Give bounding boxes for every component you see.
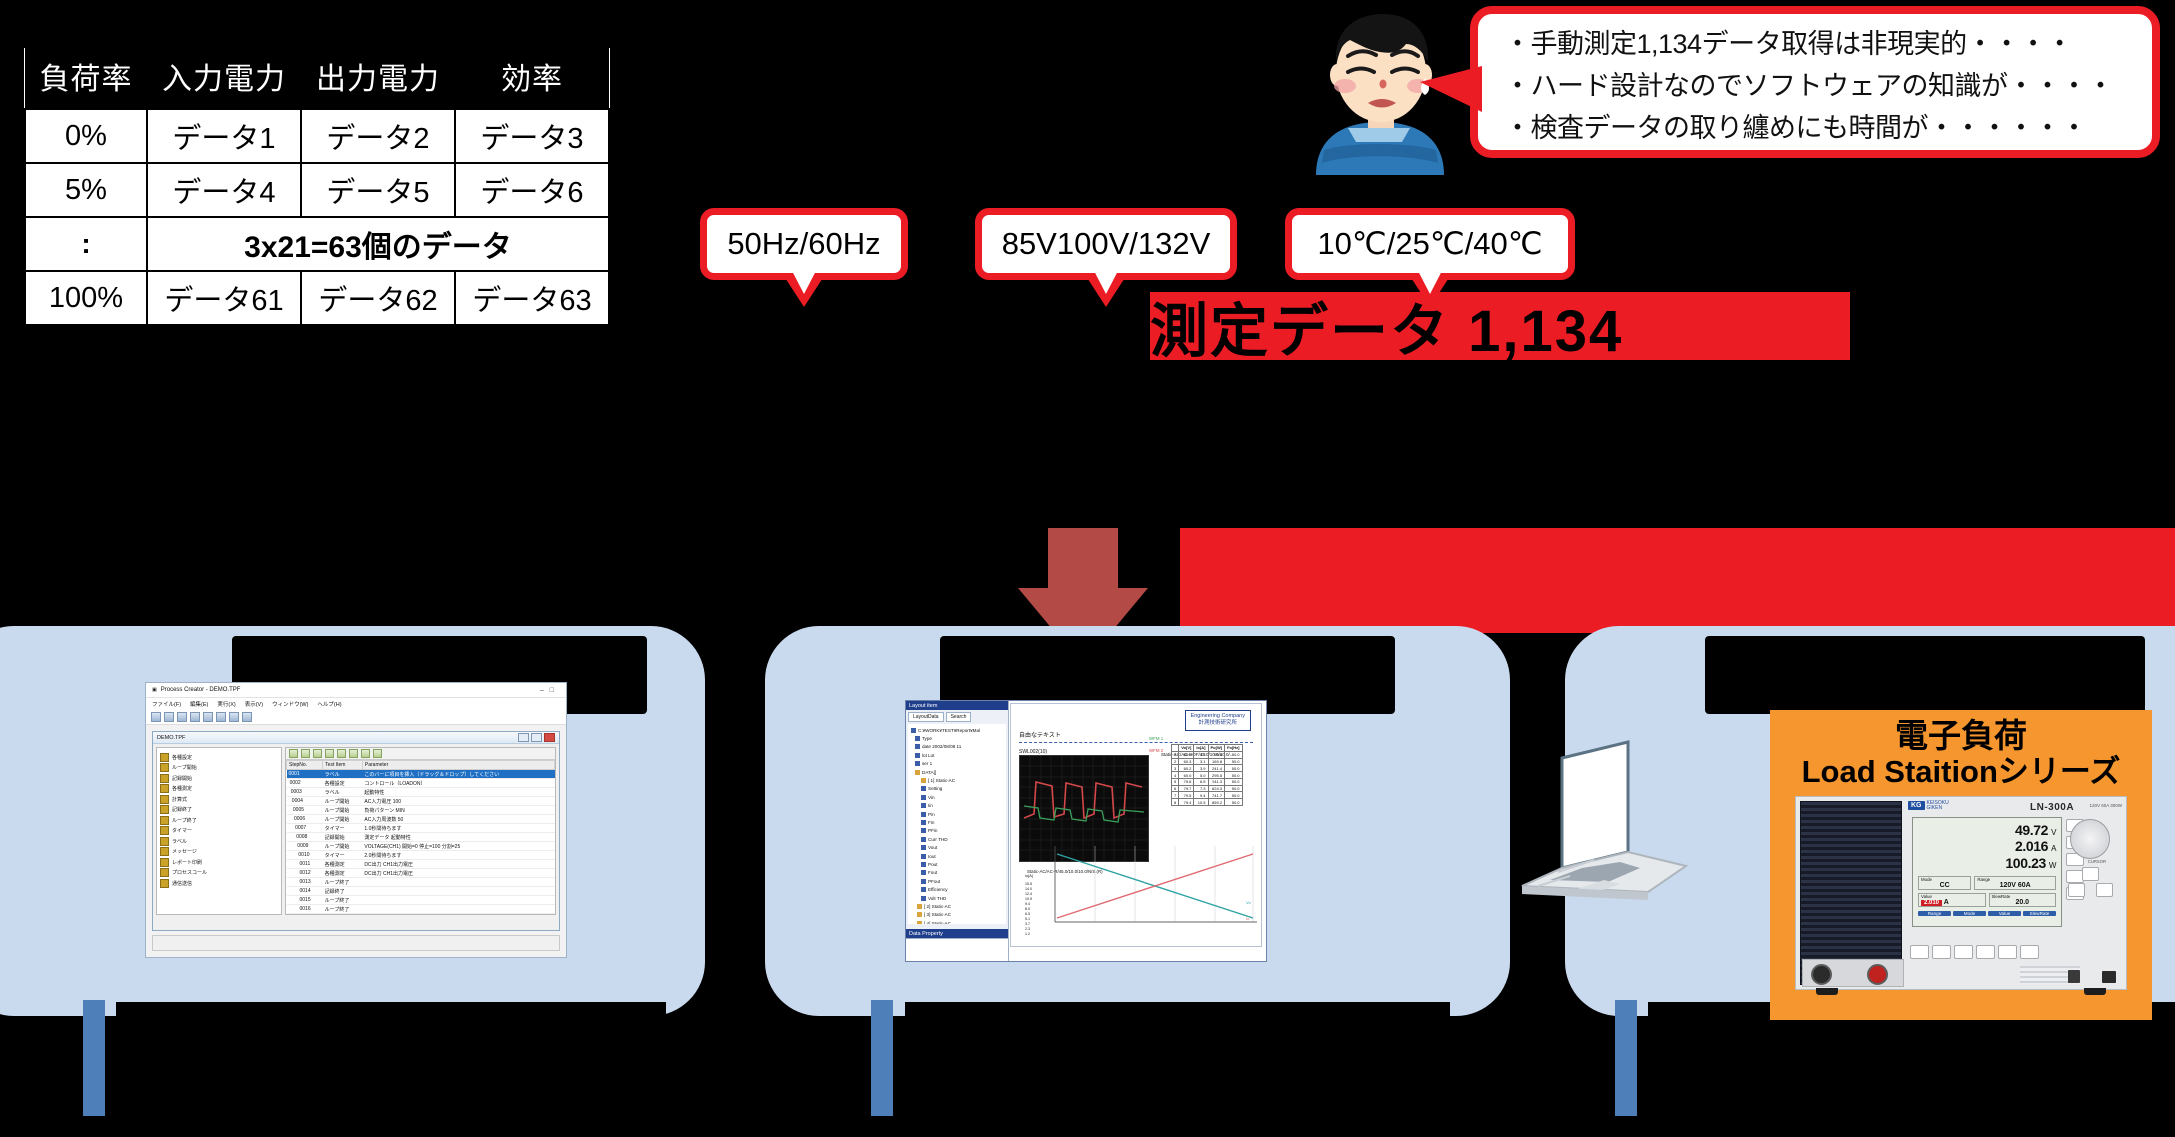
step-no: 0012 bbox=[287, 869, 323, 878]
layout-tree-item[interactable]: Pout bbox=[911, 860, 1003, 868]
statusbar bbox=[152, 935, 560, 951]
step-no: 0011 bbox=[287, 860, 323, 869]
step-no: 0003 bbox=[287, 788, 323, 797]
layout-tree-item[interactable]: C:¥WORK¥TEST¥Report¥Mal bbox=[911, 726, 1003, 734]
print-icon[interactable] bbox=[229, 712, 239, 722]
panel-3-accent-bar bbox=[1615, 1000, 1637, 1116]
step-no: 0013 bbox=[287, 878, 323, 887]
test-item: ループ開始 bbox=[323, 806, 363, 815]
wfm1-legend: WFM 1 bbox=[1149, 736, 1163, 741]
layout-tree-label: [ 3] Static-AC bbox=[924, 912, 951, 917]
step-palette-tree[interactable]: 各種設定ループ開始記録開始各種測定計算式記録終了ループ終了タイマーラベルメッセー… bbox=[156, 747, 282, 915]
result-cell: 241.4 bbox=[1208, 765, 1225, 772]
cell-input-power: データ1 bbox=[147, 109, 301, 163]
col-step-no: StepNo. bbox=[287, 761, 323, 770]
softkey-mode[interactable]: Mode bbox=[1953, 911, 1986, 916]
window-title: Process Creator - DEMO.TPF bbox=[161, 687, 241, 693]
step-row[interactable]: 0004ループ開始AC入力電圧 100 bbox=[287, 797, 555, 806]
step-no: 0014 bbox=[287, 887, 323, 896]
laptop-illustration bbox=[1500, 740, 1730, 930]
layout-tree-label: PFout bbox=[928, 879, 940, 884]
memory-key-3[interactable] bbox=[1954, 945, 1973, 959]
layout-tree-label: Pin bbox=[928, 812, 935, 817]
palette-item-label: 計算式 bbox=[172, 796, 187, 803]
result-col-header: Fo[Hz] bbox=[1225, 745, 1242, 752]
step-row[interactable]: 0013ループ終了 bbox=[287, 878, 555, 887]
layout-tree-label: Setting bbox=[928, 786, 942, 791]
layout-item-pane[interactable]: Layout item LayoutData Search C:¥WORK¥TE… bbox=[906, 701, 1009, 961]
new-file-icon[interactable] bbox=[151, 712, 161, 722]
palette-item[interactable]: 計算式 bbox=[160, 794, 278, 805]
test-item: タイマー bbox=[323, 824, 363, 833]
tab-search[interactable]: Search bbox=[946, 712, 972, 722]
result-cell: 50.0 bbox=[1225, 778, 1242, 785]
insert-step-icon[interactable] bbox=[289, 749, 298, 758]
result-cell: 7.3 bbox=[1194, 785, 1208, 792]
palette-item-label: ループ開始 bbox=[172, 764, 197, 771]
headline-text: 測定データ 1,134 bbox=[1150, 292, 1850, 360]
step-row[interactable]: 0006ループ開始AC入力周波数 50 bbox=[287, 815, 555, 824]
layout-tree-item[interactable]: [ 4] Static-AC bbox=[911, 919, 1003, 924]
palette-item-label: 記録開始 bbox=[172, 775, 192, 782]
palette-item-icon bbox=[160, 879, 169, 888]
panel-1-accent-bar bbox=[83, 1000, 105, 1116]
palette-item[interactable]: メッセージ bbox=[160, 847, 278, 858]
layout-tree-label: DATA[] bbox=[922, 770, 936, 775]
layout-tree-label: C:¥WORK¥TEST¥Report¥Mal bbox=[918, 728, 980, 733]
step-no: 0007 bbox=[287, 824, 323, 833]
memory-key-6[interactable] bbox=[2020, 945, 2039, 959]
palette-item-icon bbox=[160, 816, 169, 825]
layout-tree-item[interactable]: [ 2] Static-AC bbox=[911, 902, 1003, 910]
result-cell: 50.0 bbox=[1225, 792, 1242, 799]
result-table-row: 160.51.259.850.0 bbox=[1172, 751, 1243, 758]
process-creator-window[interactable]: ▣ Process Creator - DEMO.TPF –□ ファイル(F) … bbox=[145, 682, 567, 958]
dpad-right-icon[interactable] bbox=[2096, 883, 2113, 897]
parameter bbox=[362, 887, 554, 896]
layout-tree-item[interactable]: Vin bbox=[911, 793, 1003, 801]
child-window[interactable]: DEMO.TPF 各種設定ループ開始記録開始各種測定計算式記録終了ループ終了タイ… bbox=[152, 731, 560, 931]
palette-item-label: タイマー bbox=[172, 827, 192, 834]
setvalue-field: Value 2.010 A bbox=[1918, 893, 1986, 907]
callout-tail-icon bbox=[1084, 273, 1128, 307]
palette-item-icon bbox=[160, 795, 169, 804]
result-cell: 741.7 bbox=[1208, 792, 1225, 799]
divider bbox=[1019, 742, 1253, 743]
brand-badge: KG bbox=[1908, 801, 1925, 810]
report-preview[interactable]: Engineering Company 計測技術研究所 自由なテキスト SWL0… bbox=[1010, 703, 1262, 947]
step-row[interactable]: 0007タイマー1.0秒間待ちます bbox=[287, 824, 555, 833]
layout-tree-item[interactable]: Vout bbox=[911, 843, 1003, 851]
step-row[interactable]: 0016ループ終了 bbox=[287, 905, 555, 914]
close-icon[interactable] bbox=[544, 733, 555, 742]
ln300a-device: KG KEISOKU GIKEN LN-300A 120V 60A 300W 4… bbox=[1795, 796, 2127, 990]
table-header-load-rate: 負荷率 bbox=[25, 48, 147, 109]
memory-key-4[interactable] bbox=[1976, 945, 1995, 959]
result-col-header: Po[W] bbox=[1208, 745, 1225, 752]
result-table-header: Vo[V]Io[A]Po[W]Fo[Hz] bbox=[1172, 745, 1243, 752]
step-no: 0017 bbox=[287, 914, 323, 916]
test-item: ループ終了 bbox=[323, 905, 363, 914]
parameter: 1.0秒間待ちます bbox=[362, 824, 554, 833]
table-header-efficiency: 効率 bbox=[455, 48, 609, 109]
mode-value: CC bbox=[1921, 882, 1968, 889]
field-icon bbox=[921, 786, 926, 791]
cell-load-rate: 5% bbox=[25, 163, 147, 217]
result-cell: 50.0 bbox=[1225, 765, 1242, 772]
stop-icon[interactable] bbox=[216, 712, 226, 722]
result-cell: 60.0 bbox=[1179, 772, 1194, 779]
load-station-title-line1: 電子負荷 bbox=[1895, 718, 2027, 755]
device-front-panel: KG KEISOKU GIKEN LN-300A 120V 60A 300W 4… bbox=[1902, 797, 2126, 989]
step-row[interactable]: 0003ラベル起動特性 bbox=[287, 788, 555, 797]
result-cell: 9.4 bbox=[1194, 792, 1208, 799]
layout-tree-label: Fin bbox=[928, 820, 934, 825]
load-terminals bbox=[1802, 959, 1904, 987]
softkey-value[interactable]: Value bbox=[1988, 911, 2021, 916]
field-icon bbox=[921, 854, 926, 859]
parameter bbox=[362, 878, 554, 887]
field-icon bbox=[921, 845, 926, 850]
step-table[interactable]: StepNo. Test Item Parameter 0001ラベルこのバーに… bbox=[286, 760, 555, 915]
menu-edit[interactable]: 編集(E) bbox=[190, 700, 208, 708]
slewrate-label: SlewRate bbox=[1992, 894, 2011, 899]
field-icon bbox=[921, 795, 926, 800]
step-row[interactable]: 0001ラベルこのバーに項目を挿入（ドラッグ＆ドロップ）してください bbox=[287, 770, 555, 779]
rotary-encoder-knob[interactable] bbox=[2070, 819, 2110, 859]
palette-item[interactable]: 記録終了 bbox=[160, 805, 278, 816]
softkey-row[interactable]: Range Mode Value SlewRate bbox=[1918, 911, 2056, 916]
palette-item-icon bbox=[160, 753, 169, 762]
heatsink-fins bbox=[1800, 801, 1902, 985]
data-property-pane[interactable]: Data Property bbox=[906, 929, 1008, 961]
cell-efficiency: データ6 bbox=[455, 163, 609, 217]
step-row[interactable]: 0002各種設定コントロール（LOADON） bbox=[287, 779, 555, 788]
cell-efficiency: データ3 bbox=[455, 109, 609, 163]
result-cell: 79.6 bbox=[1179, 778, 1194, 785]
palette-item-icon bbox=[160, 784, 169, 793]
cell-total-data-note: 3x21=63個のデータ bbox=[147, 217, 609, 271]
tab-layoutdata[interactable]: LayoutData bbox=[908, 712, 944, 722]
setvalue-unit: A bbox=[1944, 899, 1949, 906]
layout-tree-label: Curr THD bbox=[928, 837, 948, 842]
result-table-row: 779.59.4741.750.0 bbox=[1172, 792, 1243, 799]
result-cell: 79.4 bbox=[1179, 799, 1194, 806]
step-row[interactable]: 0015ループ終了 bbox=[287, 896, 555, 905]
child-window-title: DEMO.TPF bbox=[157, 735, 185, 741]
palette-item[interactable]: 通信送信 bbox=[160, 878, 278, 889]
result-cell: 8 bbox=[1172, 799, 1179, 806]
copy-icon[interactable] bbox=[349, 749, 358, 758]
layout-tree-item[interactable]: ser 1 bbox=[911, 760, 1003, 768]
layout-tree-label: Efficiency bbox=[928, 887, 948, 892]
result-cell: 79.7 bbox=[1179, 785, 1194, 792]
save-icon[interactable] bbox=[177, 712, 187, 722]
table-row: 0% データ1 データ2 データ3 bbox=[25, 109, 609, 163]
layout-tree-item[interactable]: Curr THD bbox=[911, 835, 1003, 843]
toolbar[interactable] bbox=[146, 710, 566, 725]
reading-power-unit: W bbox=[2049, 861, 2056, 870]
result-cell: 5.0 bbox=[1194, 772, 1208, 779]
parameter: このバーに項目を挿入（ドラッグ＆ドロップ）してください bbox=[362, 770, 554, 779]
cut-icon[interactable] bbox=[337, 749, 346, 758]
step-no: 0004 bbox=[287, 797, 323, 806]
panel-1-body-mask bbox=[116, 1002, 666, 1116]
step-row[interactable]: 0008記録開始測定データ 起動特性 bbox=[287, 833, 555, 842]
move-down-icon[interactable] bbox=[325, 749, 334, 758]
result-cell: 50.0 bbox=[1225, 799, 1242, 806]
layout-tree-item[interactable]: Pin bbox=[911, 810, 1003, 818]
run-icon[interactable] bbox=[203, 712, 213, 722]
layout-tree-item[interactable]: date 2002/08/08 11 bbox=[911, 743, 1003, 751]
result-cell: 4 bbox=[1172, 772, 1179, 779]
col-test-item: Test Item bbox=[323, 761, 363, 770]
terminal-negative bbox=[1811, 964, 1832, 985]
result-cell: 169.8 bbox=[1208, 758, 1225, 765]
cell-output-power: データ5 bbox=[301, 163, 455, 217]
reading-current-unit: A bbox=[2051, 844, 2056, 853]
series-io-label: Io bbox=[1246, 916, 1249, 921]
step-row[interactable]: 0005ループ開始負荷パターン MIN bbox=[287, 806, 555, 815]
step-no: 0015 bbox=[287, 896, 323, 905]
field-icon bbox=[921, 820, 926, 825]
open-folder-icon[interactable] bbox=[164, 712, 174, 722]
cell-load-rate: 0% bbox=[25, 109, 147, 163]
delete-step-icon[interactable] bbox=[301, 749, 310, 758]
field-icon bbox=[921, 862, 926, 867]
memory-key-row[interactable] bbox=[1910, 945, 2039, 959]
layout-tree-label: [ 4] Static-AC bbox=[924, 921, 951, 924]
layout-tree-label: Type bbox=[922, 736, 932, 741]
layout-tree-item[interactable]: Iin bbox=[911, 802, 1003, 810]
field-icon bbox=[921, 870, 926, 875]
cursor-label: CURSOR bbox=[2088, 859, 2106, 864]
device-feet bbox=[1816, 988, 2106, 995]
window-controls[interactable]: –□ bbox=[540, 687, 560, 694]
palette-item[interactable]: 各種測定 bbox=[160, 784, 278, 795]
chart-y-ticks: 15.514.012.410.99.48.06.55.13.72.31.2 bbox=[1025, 882, 1032, 936]
callout-tail-icon bbox=[782, 273, 826, 307]
step-no: 0010 bbox=[287, 851, 323, 860]
device-model: LN-300A bbox=[2030, 802, 2074, 813]
power-switch[interactable] bbox=[2102, 971, 2116, 983]
table-row-ellipsis: : 3x21=63個のデータ bbox=[25, 217, 609, 271]
step-no: 0005 bbox=[287, 806, 323, 815]
maximize-icon[interactable] bbox=[531, 733, 542, 742]
cursor-dpad[interactable] bbox=[2068, 867, 2112, 901]
callout-tail-icon bbox=[1408, 273, 1452, 307]
layout-tree-item[interactable]: Setting bbox=[911, 785, 1003, 793]
test-item: 記録終了 bbox=[323, 887, 363, 896]
slewrate-field: SlewRate 20.0 bbox=[1989, 893, 2057, 907]
layout-tree-item[interactable]: [ 3] Static-AC bbox=[911, 911, 1003, 919]
panel-3-title-mask bbox=[1705, 636, 2145, 714]
table-row: 5% データ4 データ5 データ6 bbox=[25, 163, 609, 217]
softkey-slewrate[interactable]: SlewRate bbox=[2023, 911, 2056, 916]
palette-item[interactable]: レポート印刷 bbox=[160, 857, 278, 868]
field-icon bbox=[915, 753, 920, 758]
menu-run[interactable]: 実行(X) bbox=[217, 700, 235, 708]
test-item: ループ終了 bbox=[323, 914, 363, 916]
menu-window[interactable]: ウィンドウ(W) bbox=[272, 700, 308, 708]
menu-file[interactable]: ファイル(F) bbox=[152, 700, 181, 708]
field-icon bbox=[915, 736, 920, 741]
device-spec: 120V 60A 300W bbox=[2089, 803, 2122, 808]
parameter bbox=[362, 914, 554, 916]
company-logo-line2: 計測技術研究所 bbox=[1191, 720, 1245, 727]
memory-key-5[interactable] bbox=[1998, 945, 2017, 959]
result-cell: 59.8 bbox=[1208, 751, 1225, 758]
palette-item[interactable]: ループ終了 bbox=[160, 815, 278, 826]
paste-icon[interactable] bbox=[361, 749, 370, 758]
chart-y-tick: 1.2 bbox=[1025, 932, 1032, 937]
palette-item-label: ラベル bbox=[172, 838, 187, 845]
step-row[interactable]: 0012各種測定DC出力 CH1出力電圧 bbox=[287, 869, 555, 878]
report-creator-window[interactable]: Layout item LayoutData Search C:¥WORK¥TE… bbox=[905, 700, 1267, 962]
speech-bubble-beak-icon bbox=[1420, 66, 1482, 112]
step-row[interactable]: 0011各種測定DC出力 CH1出力電圧 bbox=[287, 860, 555, 869]
result-cell: 50.0 bbox=[1225, 785, 1242, 792]
palette-item-icon bbox=[160, 774, 169, 783]
palette-item[interactable]: 各種設定 bbox=[160, 752, 278, 763]
layout-tree-item[interactable]: Fout bbox=[911, 869, 1003, 877]
minimize-icon[interactable] bbox=[518, 733, 529, 742]
step-table-header: StepNo. Test Item Parameter bbox=[287, 761, 555, 770]
layout-tree-item[interactable]: Volt THD bbox=[911, 894, 1003, 902]
problem-line-2: ・ハード設計なのでソフトウェアの知識が・・・・ bbox=[1504, 64, 2134, 103]
step-row[interactable]: 0017ループ終了 bbox=[287, 914, 555, 916]
layout-tree-item[interactable]: Fin bbox=[911, 818, 1003, 826]
cell-input-power: データ61 bbox=[147, 271, 301, 325]
brand-logo: KG KEISOKU GIKEN bbox=[1908, 801, 1949, 812]
field-icon bbox=[921, 896, 926, 901]
layout-tree-label: Pout bbox=[928, 862, 937, 867]
chart-y-label: Io[A] bbox=[1025, 874, 1033, 878]
layout-tree-item[interactable]: [ 1] Static-AC bbox=[911, 776, 1003, 784]
child-window-controls[interactable] bbox=[518, 733, 555, 742]
parameter: DC出力 CH1出力電圧 bbox=[362, 869, 554, 878]
search-icon[interactable] bbox=[373, 749, 382, 758]
result-cell: 624.3 bbox=[1208, 785, 1225, 792]
softkey-range[interactable]: Range bbox=[1918, 911, 1951, 916]
callout-temperature-label: 10℃/25℃/40℃ bbox=[1317, 226, 1542, 262]
result-table-row: 679.77.3624.350.0 bbox=[1172, 785, 1243, 792]
cell-ellipsis: : bbox=[25, 217, 147, 271]
step-row[interactable]: 0014記録終了 bbox=[287, 887, 555, 896]
palette-item[interactable]: ラベル bbox=[160, 836, 278, 847]
layout-tree-label: date 2002/08/08 11 bbox=[922, 744, 961, 749]
result-table-row: 460.05.0295.550.0 bbox=[1172, 772, 1243, 779]
palette-item-label: 各種測定 bbox=[172, 785, 192, 792]
report-free-text: 自由なテキスト bbox=[1019, 730, 1253, 739]
series-vo-label: Vo bbox=[1246, 900, 1251, 905]
palette-item[interactable]: ループ開始 bbox=[160, 763, 278, 774]
layout-item-tabs[interactable]: LayoutData Search bbox=[906, 710, 1008, 724]
data-property-body[interactable] bbox=[906, 938, 1008, 961]
folder-icon bbox=[917, 921, 922, 924]
memory-key-1[interactable] bbox=[1910, 945, 1929, 959]
dpad-left-icon[interactable] bbox=[2068, 883, 2085, 897]
mode-field: Mode CC bbox=[1918, 876, 1971, 890]
reading-power: 100.23W bbox=[1918, 855, 2056, 872]
cell-output-power: データ2 bbox=[301, 109, 455, 163]
menu-help[interactable]: ヘルプ(H) bbox=[317, 700, 341, 708]
layout-tree-item[interactable]: Efficiency bbox=[911, 885, 1003, 893]
undo-icon[interactable] bbox=[190, 712, 200, 722]
step-list-pane[interactable]: StepNo. Test Item Parameter 0001ラベルこのバーに… bbox=[285, 747, 556, 915]
test-item: 各種設定 bbox=[323, 779, 363, 788]
palette-item[interactable]: プロセスコール bbox=[160, 868, 278, 879]
range-label: Range bbox=[1977, 877, 1990, 882]
cell-load-rate: 100% bbox=[25, 271, 147, 325]
company-logo: Engineering Company 計測技術研究所 bbox=[1185, 710, 1251, 731]
palette-item-label: プロセスコール bbox=[172, 869, 207, 876]
layout-tree-label: PFin bbox=[928, 828, 937, 833]
menubar[interactable]: ファイル(F) 編集(E) 実行(X) 表示(V) ウィンドウ(W) ヘルプ(H… bbox=[146, 698, 566, 710]
data-property-title: Data Property bbox=[906, 929, 1008, 938]
layout-tree-label: Vin bbox=[928, 795, 935, 800]
reading-voltage-unit: V bbox=[2051, 828, 2056, 837]
parameter: 2.0秒間待ちます bbox=[362, 851, 554, 860]
layout-tree-item[interactable]: Iout bbox=[911, 852, 1003, 860]
result-col-header: Vo[V] bbox=[1179, 745, 1194, 752]
result-cell: 3 bbox=[1172, 765, 1179, 772]
palette-item[interactable]: 記録開始 bbox=[160, 773, 278, 784]
layout-tree-item[interactable]: Type bbox=[911, 734, 1003, 742]
move-up-icon[interactable] bbox=[313, 749, 322, 758]
menu-view[interactable]: 表示(V) bbox=[245, 700, 263, 708]
parameter: 負荷パターン MIN bbox=[362, 806, 554, 815]
cell-efficiency: データ63 bbox=[455, 271, 609, 325]
result-cell: 3.1 bbox=[1194, 758, 1208, 765]
layout-tree-item[interactable]: lot Lot bbox=[911, 751, 1003, 759]
result-cell: 1 bbox=[1172, 751, 1179, 758]
result-cell: 295.5 bbox=[1208, 772, 1225, 779]
callout-voltage: 85V100V/132V bbox=[975, 208, 1237, 280]
step-row[interactable]: 0010タイマー2.0秒間待ちます bbox=[287, 851, 555, 860]
step-no: 0001 bbox=[287, 770, 323, 779]
palette-item[interactable]: タイマー bbox=[160, 826, 278, 837]
result-cell: 1.2 bbox=[1194, 751, 1208, 758]
dpad-up-icon[interactable] bbox=[2082, 867, 2099, 881]
result-cell: 3.9 bbox=[1194, 765, 1208, 772]
reading-voltage-value: 49.72 bbox=[2015, 822, 2048, 838]
field-icon bbox=[921, 803, 926, 808]
load-station-card: 電子負荷 Load Staitionシリーズ KG KEISOKU GIKEN … bbox=[1770, 710, 2152, 1020]
folder-icon bbox=[917, 912, 922, 917]
vo-io-line-chart bbox=[1025, 844, 1262, 936]
field-icon bbox=[921, 887, 926, 892]
parameter: VOLTAGE(CH1) 開始=0 停止=100 分割=25 bbox=[362, 842, 554, 851]
result-table-row: 360.23.9241.450.0 bbox=[1172, 765, 1243, 772]
step-row[interactable]: 0009ループ開始VOLTAGE(CH1) 開始=0 停止=100 分割=25 bbox=[287, 842, 555, 851]
layout-data-tree[interactable]: C:¥WORK¥TEST¥Report¥MalTypedate 2002/08/… bbox=[908, 724, 1006, 924]
test-item: ラベル bbox=[323, 770, 363, 779]
reading-current: 2.016A bbox=[1918, 838, 2056, 855]
step-list-toolbar[interactable] bbox=[286, 748, 555, 760]
layout-tree-item[interactable]: PFin bbox=[911, 827, 1003, 835]
layout-tree-item[interactable]: DATA[] bbox=[911, 768, 1003, 776]
callout-frequency: 50Hz/60Hz bbox=[700, 208, 908, 280]
palette-item-icon bbox=[160, 837, 169, 846]
help-icon[interactable] bbox=[242, 712, 252, 722]
range-value: 120V 60A bbox=[1977, 882, 2053, 889]
layout-tree-item[interactable]: PFout bbox=[911, 877, 1003, 885]
result-cell: 60.3 bbox=[1179, 758, 1194, 765]
memory-key-2[interactable] bbox=[1932, 945, 1951, 959]
measurement-data-table: 負荷率 入力電力 出力電力 効率 0% データ1 データ2 データ3 5% デー… bbox=[24, 48, 610, 326]
step-no: 0009 bbox=[287, 842, 323, 851]
